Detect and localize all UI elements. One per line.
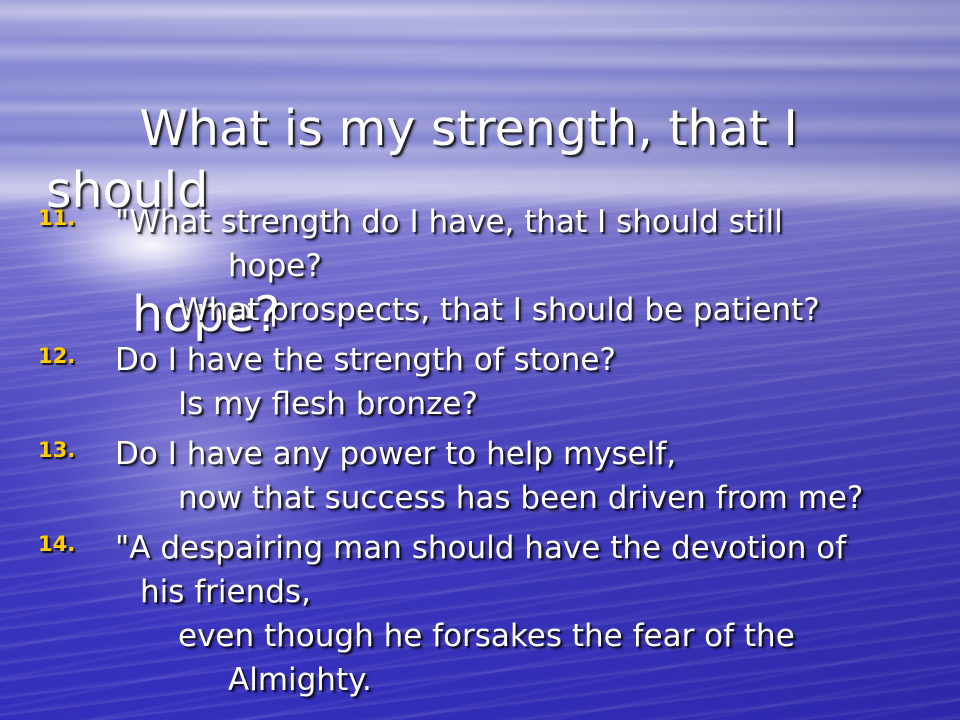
list-item-line: "What strength do I have, that I should … bbox=[115, 200, 960, 244]
list-item-text: "What strength do I have, that I should … bbox=[0, 200, 960, 332]
list-item-line: now that success has been driven from me… bbox=[115, 476, 960, 520]
list-item-line: Do I have the strength of stone? bbox=[115, 338, 960, 382]
list-item-number: 14. bbox=[38, 532, 75, 556]
list-item-line: What prospects, that I should be patient… bbox=[115, 288, 960, 332]
list-item: 14."A despairing man should have the dev… bbox=[0, 526, 960, 702]
presentation-slide: What is my strength, that I should hope?… bbox=[0, 0, 960, 720]
list-item: 12.Do I have the strength of stone?Is my… bbox=[0, 338, 960, 426]
list-item: 11."What strength do I have, that I shou… bbox=[0, 200, 960, 332]
slide-content: What is my strength, that I should hope?… bbox=[0, 0, 960, 720]
list-item-number: 11. bbox=[38, 206, 75, 230]
list-item-line: hope? bbox=[115, 244, 960, 288]
list-item: 13.Do I have any power to help myself,no… bbox=[0, 432, 960, 520]
list-item-line: Almighty. bbox=[115, 658, 960, 702]
list-item-text: Do I have any power to help myself,now t… bbox=[0, 432, 960, 520]
list-item-text: "A despairing man should have the devoti… bbox=[0, 526, 960, 702]
list-item-number: 13. bbox=[38, 438, 75, 462]
list-item-line: even though he forsakes the fear of the bbox=[115, 614, 960, 658]
list-item-line: his friends, bbox=[115, 570, 960, 614]
list-item-number: 12. bbox=[38, 344, 75, 368]
slide-body-list: 11."What strength do I have, that I shou… bbox=[0, 200, 960, 702]
list-item-line: Is my flesh bronze? bbox=[115, 382, 960, 426]
list-item-line: "A despairing man should have the devoti… bbox=[115, 526, 960, 570]
list-item-line: Do I have any power to help myself, bbox=[115, 432, 960, 476]
list-item-text: Do I have the strength of stone?Is my fl… bbox=[0, 338, 960, 426]
